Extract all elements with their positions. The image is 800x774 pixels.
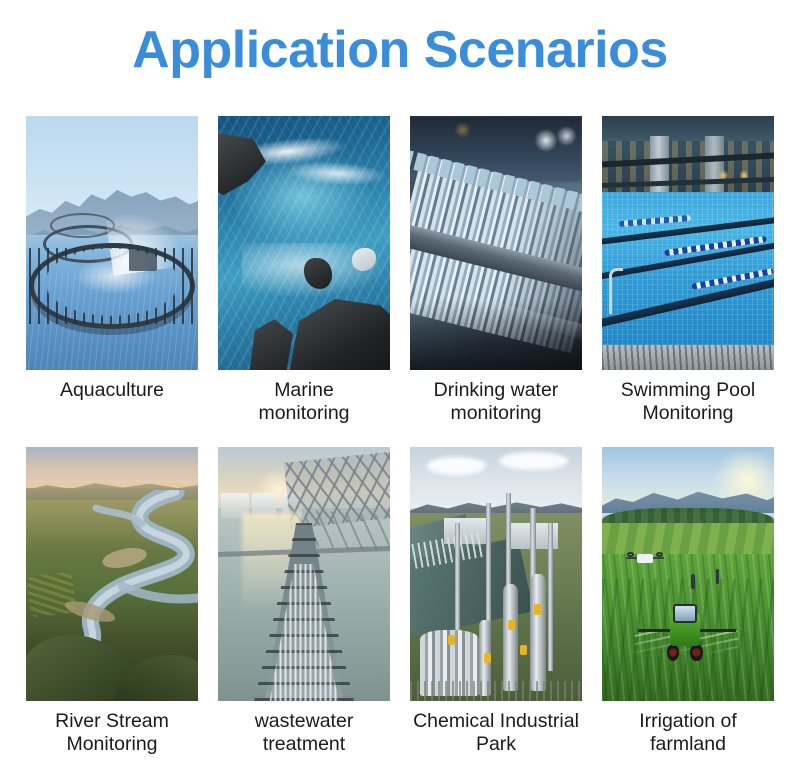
irrigation-image	[602, 447, 774, 701]
chemical-park-image	[410, 447, 582, 701]
vertical-pipe-5	[548, 523, 553, 670]
scenario-card-irrigation[interactable]: Irrigation offarmland	[602, 447, 774, 756]
scenario-caption: Irrigation offarmland	[595, 710, 781, 756]
field-worker-2	[716, 569, 719, 584]
scenario-caption: Marinemonitoring	[211, 379, 397, 425]
wastewater-image	[218, 447, 390, 701]
field-worker-1	[691, 574, 694, 589]
scenario-card-drinking-water[interactable]: Drinking watermonitoring	[410, 116, 582, 425]
scenario-grid: Aquaculture Marinemonitoring	[0, 116, 800, 756]
deck-grate	[602, 345, 774, 370]
distillation-column-2	[530, 574, 545, 691]
scenario-row-2: River StreamMonitoring	[0, 447, 800, 756]
cloud-2	[499, 452, 568, 470]
perimeter-fence	[410, 681, 582, 701]
page-title: Application Scenarios	[0, 22, 800, 79]
drone-body	[637, 554, 654, 563]
cloud-1	[427, 457, 485, 475]
river-stream-image	[26, 447, 198, 701]
scenario-caption: Aquaculture	[19, 379, 205, 402]
yellow-valve-1	[508, 620, 515, 630]
sea-rock-small	[304, 258, 332, 288]
scenario-card-swimming-pool[interactable]: Swimming PoolMonitoring	[602, 116, 774, 425]
yellow-valve-3	[520, 645, 527, 655]
yellow-valve-5	[484, 653, 491, 663]
application-scenarios-page: Application Scenarios	[0, 0, 800, 774]
scenario-caption: wastewatertreatment	[211, 710, 397, 756]
scenario-row-1: Aquaculture Marinemonitoring	[0, 116, 800, 425]
distillation-column-1	[503, 584, 518, 691]
tractor-cab	[673, 604, 697, 623]
scenario-card-river-stream[interactable]: River StreamMonitoring	[26, 447, 198, 756]
spraying-drone	[626, 549, 664, 569]
marine-monitoring-image	[218, 116, 390, 370]
aquaculture-image	[26, 116, 198, 370]
swimming-pool-image	[602, 116, 774, 370]
scenario-card-wastewater[interactable]: wastewatertreatment	[218, 447, 390, 756]
scenario-caption: Drinking watermonitoring	[403, 379, 589, 425]
tractor-wheel-front	[690, 644, 702, 662]
fish-pen-posts	[29, 248, 194, 324]
scenario-card-aquaculture[interactable]: Aquaculture	[26, 116, 198, 425]
hall-column-right	[705, 136, 724, 200]
spraying-tractor	[660, 604, 712, 660]
yellow-valve-2	[534, 604, 541, 614]
bokeh-light-3	[455, 121, 470, 139]
bokeh-light-1	[534, 129, 558, 152]
drinking-water-image	[410, 116, 582, 370]
scenario-caption: Swimming PoolMonitoring	[595, 379, 781, 425]
scenario-caption: Chemical IndustrialPark	[403, 710, 589, 756]
pool-ladder	[609, 268, 623, 314]
scenario-caption: River StreamMonitoring	[19, 710, 205, 756]
surf-foam-2	[286, 159, 387, 187]
scenario-card-chemical-park[interactable]: Chemical IndustrialPark	[410, 447, 582, 756]
sunset-sky	[26, 447, 198, 488]
hall-windows	[602, 141, 774, 197]
foreground-shadow	[410, 299, 582, 370]
yellow-valve-4	[448, 635, 455, 645]
scenario-card-marine-monitoring[interactable]: Marinemonitoring	[218, 116, 390, 425]
hall-column-left	[650, 136, 669, 200]
tractor-wheel-rear	[667, 644, 679, 662]
